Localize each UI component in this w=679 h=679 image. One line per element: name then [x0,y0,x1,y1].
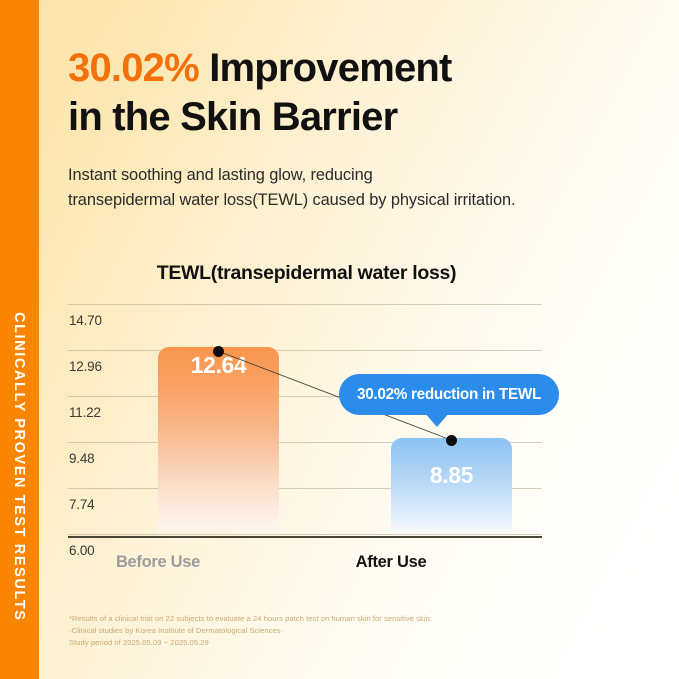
x-axis-label-before-use: Before Use [78,553,238,572]
chart-plot-area: 14.70 12.96 11.22 9.48 7.74 6.00 12.64 8… [68,304,542,536]
footnote-line-2: -Clinical studies by Korea Institute of … [69,625,432,637]
subtitle-line-1: Instant soothing and lasting glow, reduc… [68,166,373,184]
trend-connector-line [68,304,542,536]
headline-line2: in the Skin Barrier [68,95,397,139]
footnotes: *Results of a clinical trial on 22 subje… [69,613,432,649]
side-rail: CLINICALLY PROVEN TEST RESULTS [0,0,39,679]
callout-pointer-icon [424,412,450,427]
headline-rest: Improvement [199,46,452,90]
subtitle-line-2: transepidermal water loss(TEWL) caused b… [68,191,515,209]
x-axis-label-after-use: After Use [311,553,471,572]
page-title: 30.02% Improvement in the Skin Barrier [68,44,648,142]
reduction-callout-badge: 30.02% reduction in TEWL [339,374,559,415]
footnote-line-3: Study period of 2025.05.09 ~ 2025.05.29 [69,637,432,649]
side-rail-label: CLINICALLY PROVEN TEST RESULTS [0,0,39,679]
footnote-line-1: *Results of a clinical trial on 22 subje… [69,613,432,625]
infographic-page: CLINICALLY PROVEN TEST RESULTS 30.02% Im… [0,0,679,679]
page-subtitle: Instant soothing and lasting glow, reduc… [68,163,648,213]
headline-percentage: 30.02% [68,46,199,90]
data-point-marker-before [213,346,224,357]
data-point-marker-after [446,435,457,446]
chart-title: TEWL(transepidermal water loss) [68,262,545,285]
x-axis-line [68,536,542,538]
